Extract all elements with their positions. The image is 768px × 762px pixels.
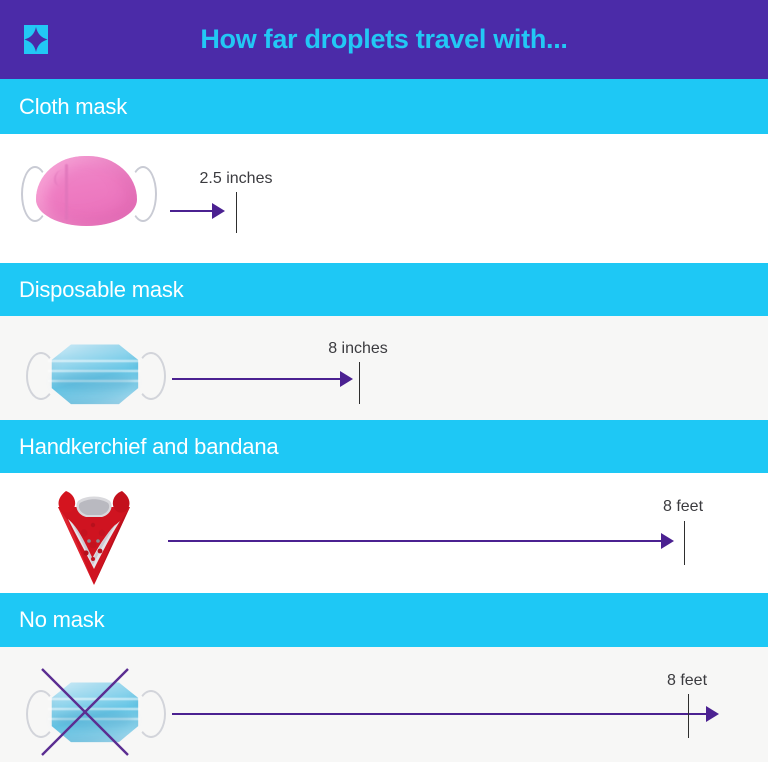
distance-tick-no-mask <box>688 694 689 738</box>
distance-arrow-head-disposable-mask <box>340 371 353 387</box>
red-bandana-icon <box>44 481 144 589</box>
section-row-disposable-mask: 8 inches <box>0 316 768 420</box>
section-row-cloth-mask: 2.5 inches <box>0 134 768 263</box>
distance-arrow-head-handkerchief-bandana <box>661 533 674 549</box>
blue-surgical-mask-icon <box>24 338 164 410</box>
infographic-root: How far droplets travel with... Cloth ma… <box>0 0 768 762</box>
distance-arrow-head-cloth-mask <box>212 203 225 219</box>
section-label-disposable-mask: Disposable mask <box>19 277 184 303</box>
pink-cloth-mask-icon <box>19 154 154 229</box>
section-label-no-mask: No mask <box>19 607 104 633</box>
section-band-disposable-mask: Disposable mask <box>0 263 768 316</box>
distance-tick-cloth-mask <box>236 192 237 233</box>
distance-label-disposable-mask: 8 inches <box>328 340 388 358</box>
distance-arrow-line-disposable-mask <box>172 378 342 380</box>
distance-label-no-mask: 8 feet <box>667 672 707 690</box>
distance-label-cloth-mask: 2.5 inches <box>200 170 273 188</box>
section-band-no-mask: No mask <box>0 593 768 647</box>
crossed-out-surgical-mask-icon <box>24 667 164 757</box>
distance-tick-disposable-mask <box>359 362 360 404</box>
page-header: How far droplets travel with... <box>0 0 768 79</box>
section-label-cloth-mask: Cloth mask <box>19 94 127 120</box>
section-band-handkerchief-bandana: Handkerchief and bandana <box>0 420 768 473</box>
distance-arrow-line-no-mask <box>172 713 708 715</box>
distance-arrow-line-cloth-mask <box>170 210 214 212</box>
section-label-handkerchief-bandana: Handkerchief and bandana <box>19 434 278 460</box>
distance-arrow-head-no-mask <box>706 706 719 722</box>
distance-arrow-line-handkerchief-bandana <box>168 540 664 542</box>
distance-label-handkerchief-bandana: 8 feet <box>663 498 703 516</box>
section-band-cloth-mask: Cloth mask <box>0 79 768 134</box>
page-title: How far droplets travel with... <box>0 0 768 79</box>
distance-tick-handkerchief-bandana <box>684 521 685 565</box>
section-row-handkerchief-bandana: 8 feet <box>0 473 768 593</box>
section-row-no-mask: 8 feet <box>0 647 768 762</box>
cross-out-x-icon <box>24 667 164 757</box>
